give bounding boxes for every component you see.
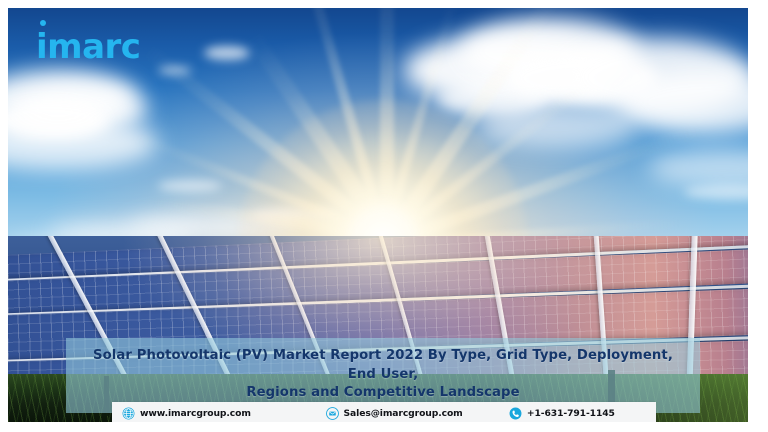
envelope-icon [326,407,339,420]
contact-footer-bar: www.imarcgroup.com Sales@imarcgroup.com … [112,402,656,422]
photo-frame: imarc Solar Photovoltaic (PV) Market Rep… [8,8,748,422]
footer-item-email[interactable]: Sales@imarcgroup.com [320,407,503,420]
globe-icon [122,407,135,420]
footer-item-phone[interactable]: +1-631-791-1145 [503,407,656,420]
email-label: Sales@imarcgroup.com [344,408,463,419]
banner-image: imarc Solar Photovoltaic (PV) Market Rep… [0,0,768,432]
report-title-line-1: Solar Photovoltaic (PV) Market Report 20… [80,347,686,384]
report-title: Solar Photovoltaic (PV) Market Report 20… [80,347,686,403]
report-title-line-2: Regions and Competitive Landscape [80,384,686,403]
imarc-logo[interactable]: imarc [36,30,140,64]
logo-dot-icon [40,20,46,26]
footer-item-website[interactable]: www.imarcgroup.com [112,407,320,420]
phone-label: +1-631-791-1145 [527,408,615,419]
phone-icon [509,407,522,420]
logo-wordmark: imarc [36,30,140,64]
website-label: www.imarcgroup.com [140,408,251,419]
